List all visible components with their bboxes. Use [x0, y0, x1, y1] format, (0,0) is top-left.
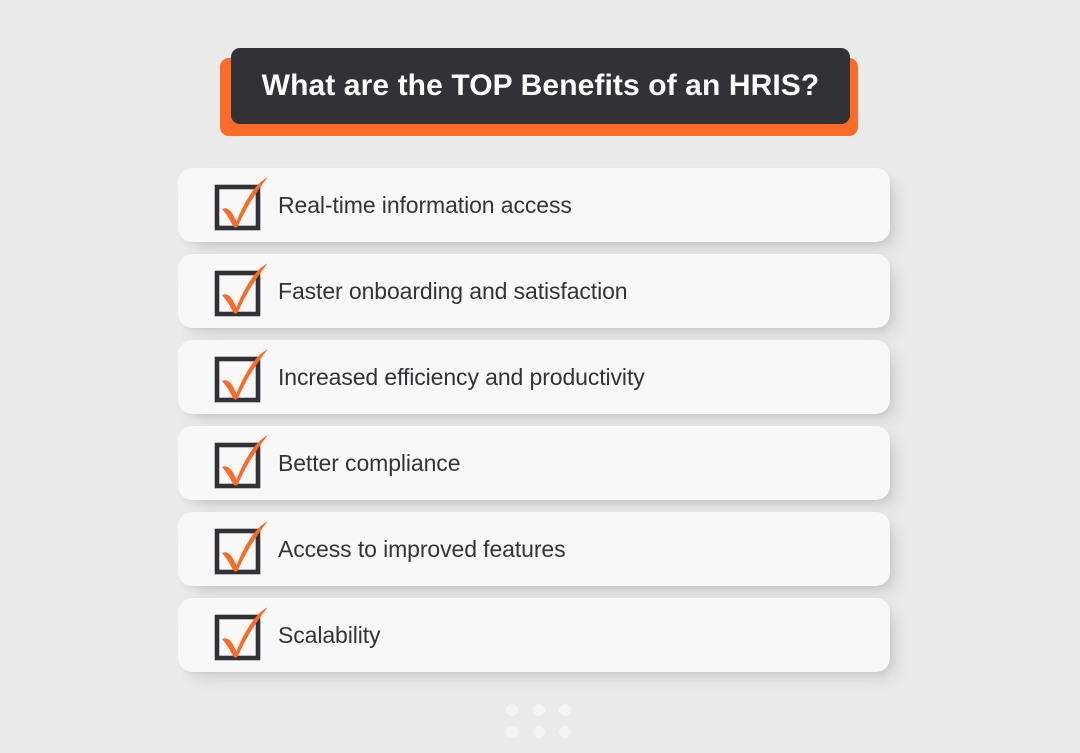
checked-checkbox-icon [178, 254, 256, 328]
decorative-dot [559, 726, 571, 738]
checked-checkbox-icon [178, 598, 256, 672]
list-item-label: Scalability [278, 622, 380, 649]
list-item-label: Faster onboarding and satisfaction [278, 278, 627, 305]
checked-checkbox-icon [178, 426, 256, 500]
title-banner: What are the TOP Benefits of an HRIS? [220, 48, 858, 136]
decorative-dot [559, 704, 571, 716]
decorative-dot [506, 726, 518, 738]
list-item-label: Real-time information access [278, 192, 572, 219]
checked-checkbox-icon [178, 512, 256, 586]
list-item[interactable]: Scalability [178, 598, 890, 672]
list-item-label: Access to improved features [278, 536, 565, 563]
decorative-dot [533, 704, 545, 716]
decorative-dot [506, 704, 518, 716]
page-title: What are the TOP Benefits of an HRIS? [262, 69, 820, 103]
checked-checkbox-icon [178, 168, 256, 242]
list-item[interactable]: Access to improved features [178, 512, 890, 586]
list-item[interactable]: Faster onboarding and satisfaction [178, 254, 890, 328]
list-item-label: Increased efficiency and productivity [278, 364, 645, 391]
checked-checkbox-icon [178, 340, 256, 414]
dot-grid-decoration [506, 704, 574, 738]
benefits-list: Real-time information access Faster onbo… [178, 168, 890, 672]
list-item[interactable]: Better compliance [178, 426, 890, 500]
title-panel: What are the TOP Benefits of an HRIS? [231, 48, 850, 124]
list-item[interactable]: Increased efficiency and productivity [178, 340, 890, 414]
list-item-label: Better compliance [278, 450, 460, 477]
list-item[interactable]: Real-time information access [178, 168, 890, 242]
infographic-canvas: What are the TOP Benefits of an HRIS? Re… [0, 0, 1080, 753]
decorative-dot [533, 726, 545, 738]
